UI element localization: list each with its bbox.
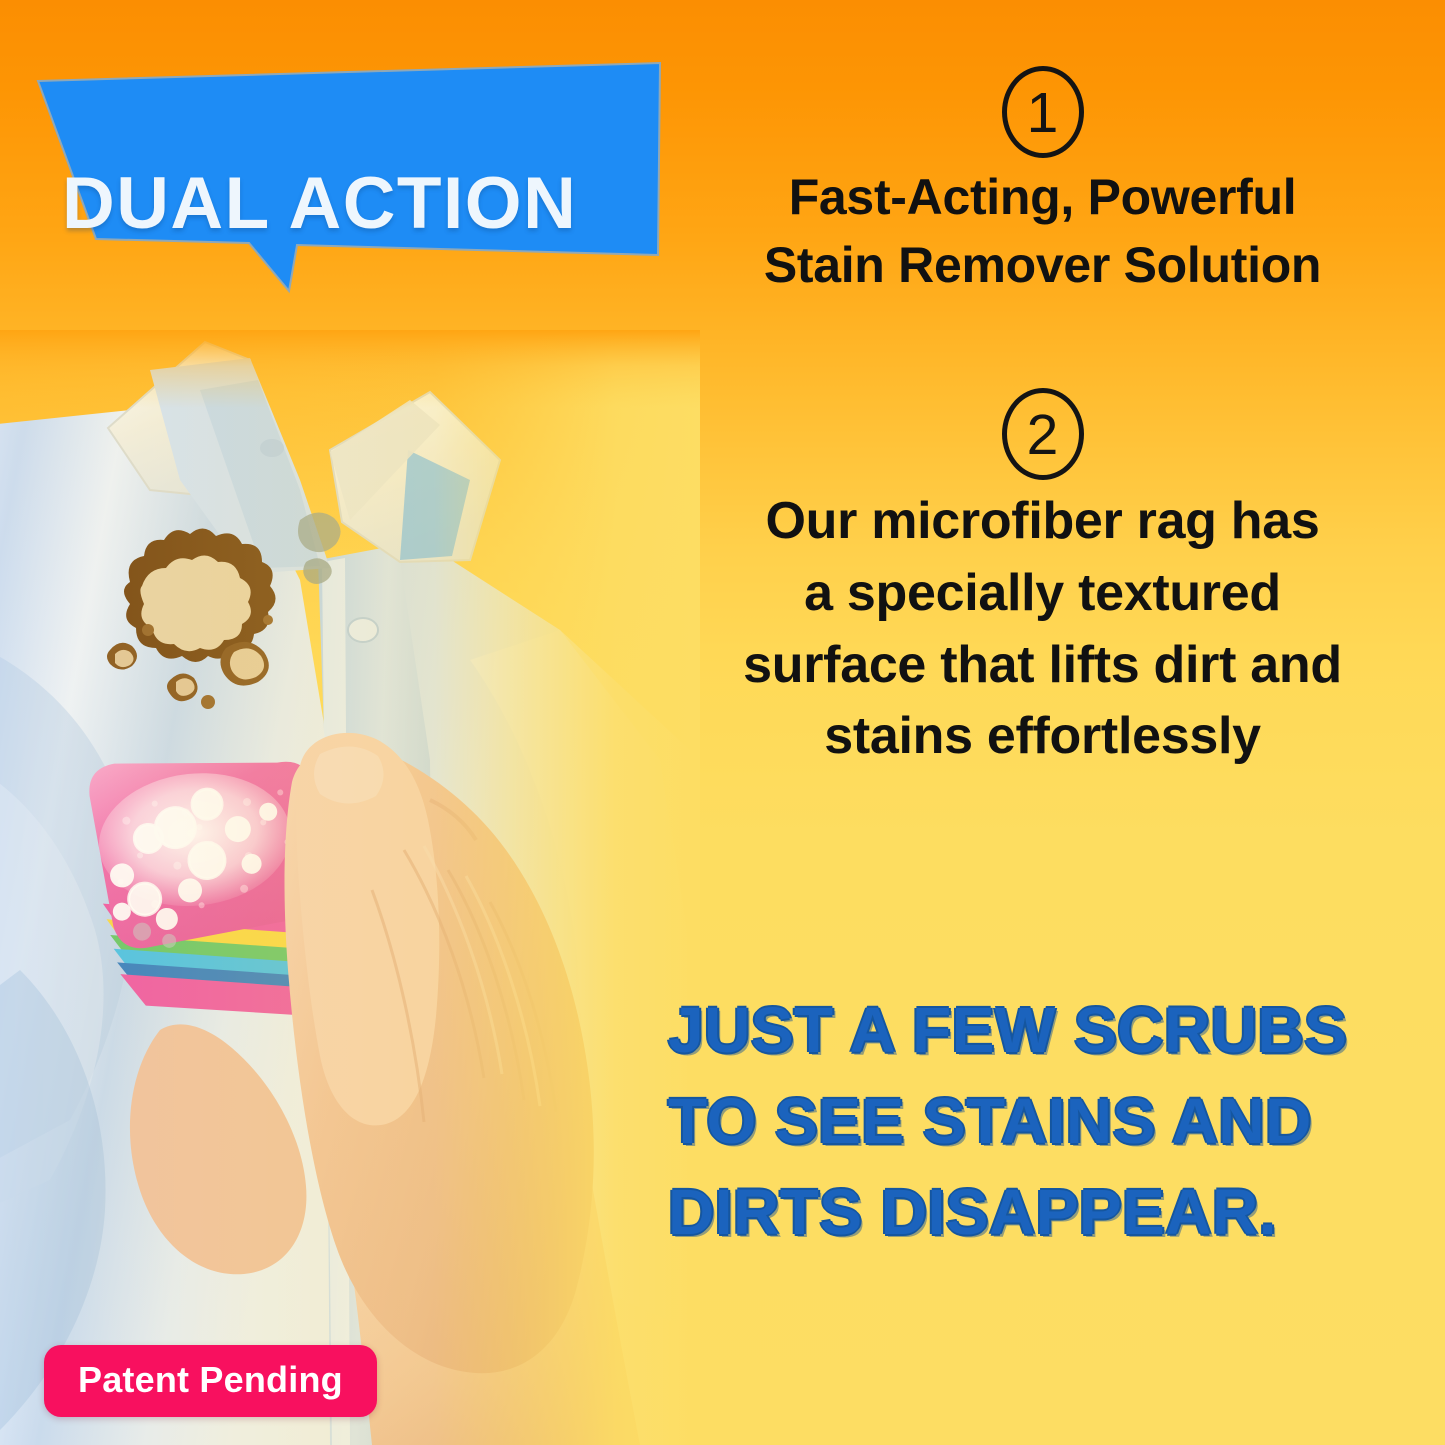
- step-2-line-4: stains effortlessly: [666, 701, 1419, 773]
- dual-action-banner: DUAL ACTION: [0, 55, 700, 345]
- product-ad-poster: DUAL ACTION 1 Fast-Acting, Powerful Stai…: [0, 0, 1445, 1445]
- step-2-line-1: Our microfiber rag has: [666, 486, 1419, 558]
- cta-line-1: JUST A FEW SCRUBS: [668, 985, 1438, 1076]
- step-1-line-2: Stain Remover Solution: [666, 232, 1419, 300]
- step-2-line-3: surface that lifts dirt and: [666, 630, 1419, 702]
- benefit-step-2: 2 Our microfiber rag has a specially tex…: [640, 388, 1445, 773]
- call-to-action-headline: JUST A FEW SCRUBS TO SEE STAINS AND DIRT…: [668, 985, 1438, 1258]
- step-2-line-2: a specially textured: [666, 558, 1419, 630]
- product-photo: [0, 330, 700, 1445]
- benefits-column: 1 Fast-Acting, Powerful Stain Remover So…: [640, 0, 1445, 1445]
- banner-title: DUAL ACTION: [62, 162, 662, 245]
- step-1-line-1: Fast-Acting, Powerful: [666, 164, 1419, 232]
- cta-line-2: TO SEE STAINS AND: [668, 1076, 1438, 1167]
- step-number-badge-2: 2: [1002, 388, 1084, 480]
- step-2-text: Our microfiber rag has a specially textu…: [640, 486, 1445, 773]
- patent-pending-badge: Patent Pending: [44, 1345, 377, 1417]
- cta-line-3: DIRTS DISAPPEAR.: [668, 1167, 1438, 1258]
- benefit-step-1: 1 Fast-Acting, Powerful Stain Remover So…: [640, 66, 1445, 299]
- step-number-badge-1: 1: [1002, 66, 1084, 158]
- step-1-text: Fast-Acting, Powerful Stain Remover Solu…: [640, 164, 1445, 299]
